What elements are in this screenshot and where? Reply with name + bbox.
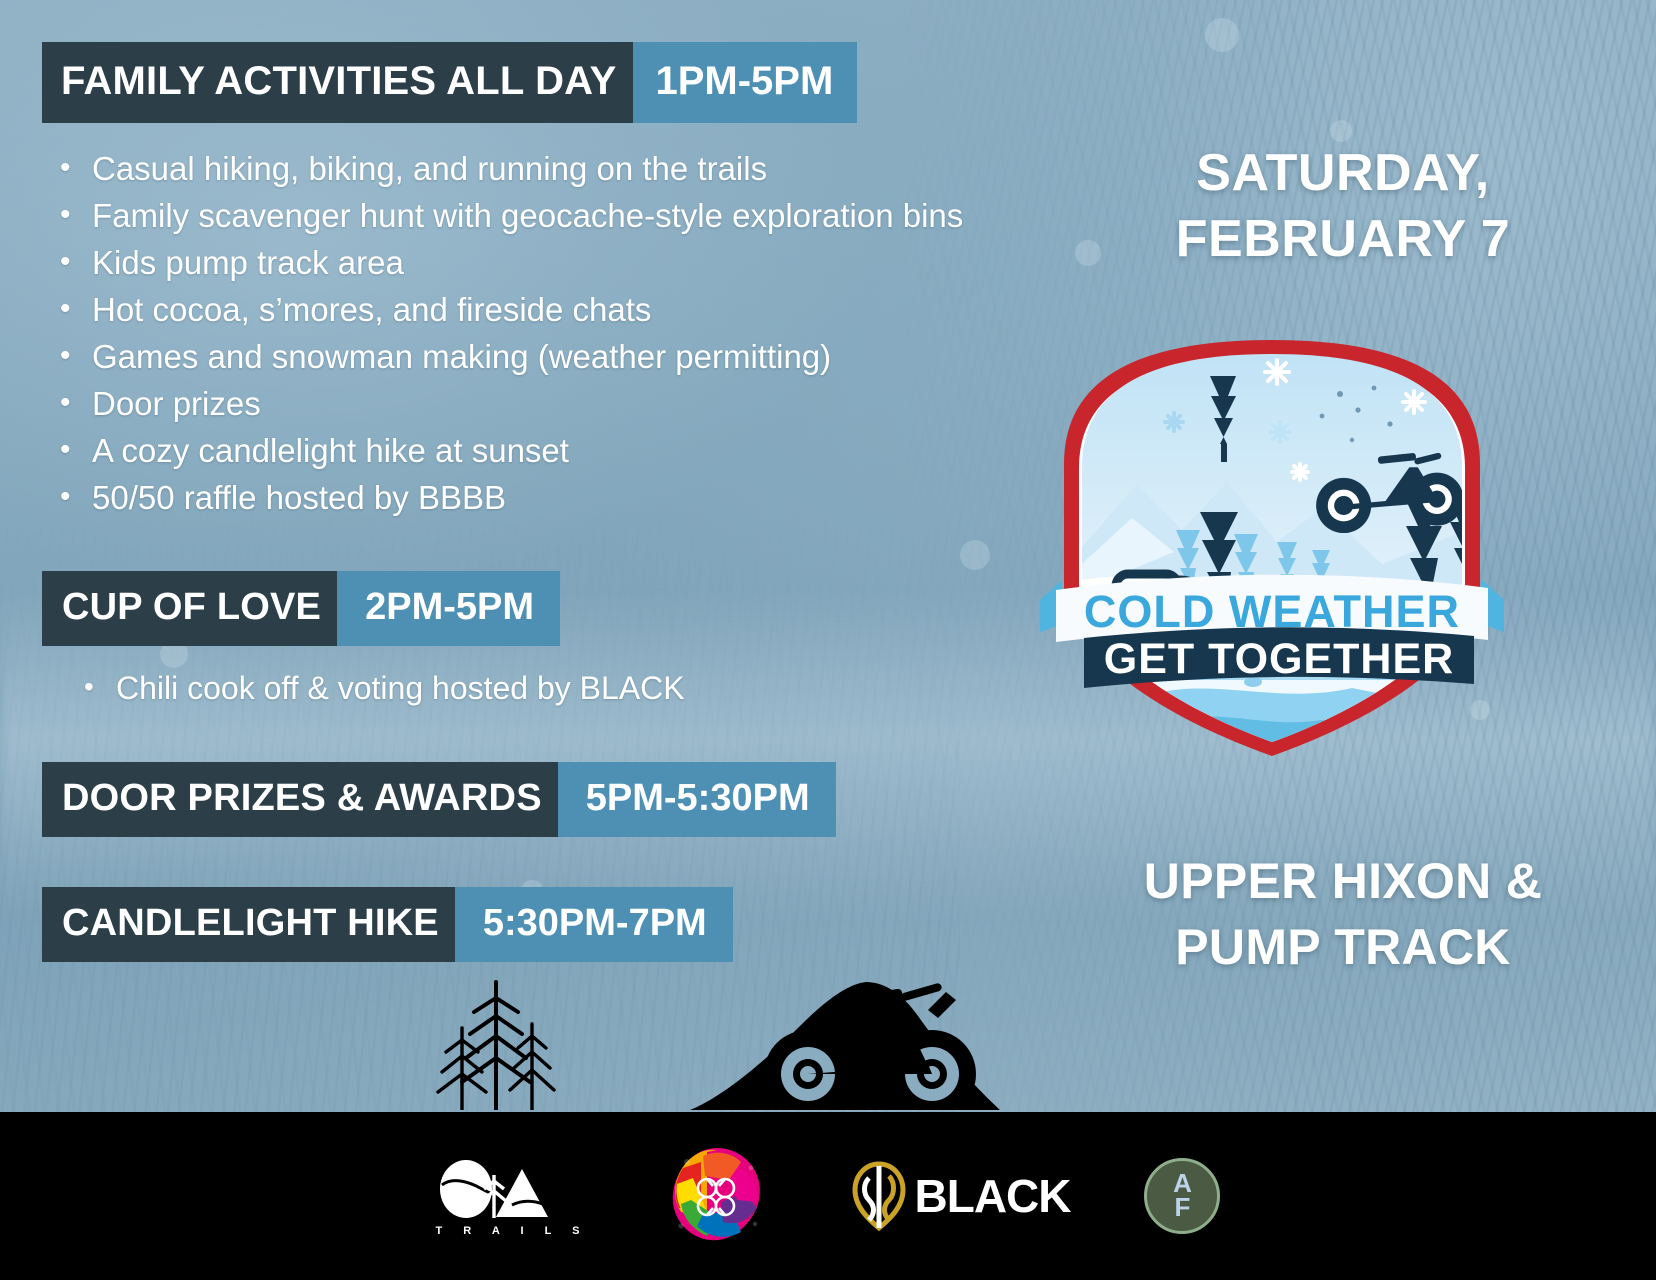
section-time: 5:30PM-7PM <box>455 887 733 962</box>
list-item: Door prizes <box>54 380 1027 427</box>
event-location-line-2: PUMP TRACK <box>1144 914 1542 980</box>
bullet-list-family-activities: Casual hiking, biking, and running on th… <box>54 145 1027 521</box>
list-item: Kids pump track area <box>54 239 1027 286</box>
list-item: Family scavenger hunt with geocache-styl… <box>54 192 1027 239</box>
section-time: 2PM-5PM <box>337 571 560 646</box>
list-item: Casual hiking, biking, and running on th… <box>54 145 1027 192</box>
section-header-door-prizes-awards: DOOR PRIZES & AWARDS 5PM-5:30PM <box>42 762 836 837</box>
sponsor-logo-ora-trails: T R A I L S <box>436 1155 589 1237</box>
svg-text:GET TOGETHER: GET TOGETHER <box>1104 635 1454 683</box>
section-title: FAMILY ACTIVITIES ALL DAY <box>42 42 633 123</box>
ora-trails-icon <box>436 1155 588 1221</box>
black-mark-icon <box>845 1158 915 1234</box>
list-item: 50/50 raffle hosted by BBBB <box>54 474 1027 521</box>
section-header-family-activities: FAMILY ACTIVITIES ALL DAY 1PM-5PM <box>42 42 857 123</box>
badge-artwork-icon: COLD WEATHER GET TOGETHER <box>1022 332 1522 762</box>
flyer-canvas: FAMILY ACTIVITIES ALL DAY 1PM-5PM Casual… <box>0 0 1656 1280</box>
section-header-candlelight-hike: CANDLELIGHT HIKE 5:30PM-7PM <box>42 887 733 962</box>
section-title: CUP OF LOVE <box>42 571 337 646</box>
sponsor-logo-black: BLACK <box>845 1158 1071 1234</box>
section-header-cup-of-love: CUP OF LOVE 2PM-5PM <box>42 571 560 646</box>
badge-banner-bottom: GET TOGETHER <box>1084 627 1474 688</box>
event-location: UPPER HIXON & PUMP TRACK <box>1144 848 1542 980</box>
event-date-line-1: SATURDAY, <box>1176 140 1510 206</box>
section-time: 1PM-5PM <box>633 42 857 123</box>
section-title: DOOR PRIZES & AWARDS <box>42 762 558 837</box>
list-item: Hot cocoa, s’mores, and fireside chats <box>54 286 1027 333</box>
sponsor-logo-bbbb <box>663 1142 771 1250</box>
section-title: CANDLELIGHT HIKE <box>42 887 455 962</box>
sponsor-footer: T R A I L S <box>0 1112 1656 1280</box>
bbbb-splatter-icon <box>663 1142 771 1250</box>
bullet-list-cup-of-love: Chili cook off & voting hosted by BLACK <box>80 666 1027 710</box>
sponsor-logo-af: A F <box>1144 1158 1220 1234</box>
af-badge-icon: A F <box>1144 1158 1220 1234</box>
ora-trails-wordmark: T R A I L S <box>436 1225 589 1237</box>
af-letter-f: F <box>1175 1196 1191 1220</box>
event-location-line-1: UPPER HIXON & <box>1144 848 1542 914</box>
list-item: A cozy candlelight hike at sunset <box>54 427 1027 474</box>
list-item: Games and snowman making (weather permit… <box>54 333 1027 380</box>
list-item: Chili cook off & voting hosted by BLACK <box>80 666 1027 710</box>
black-wordmark: BLACK <box>915 1169 1071 1223</box>
schedule-column: FAMILY ACTIVITIES ALL DAY 1PM-5PM Casual… <box>42 42 1027 962</box>
cold-weather-get-together-badge: COLD WEATHER GET TOGETHER <box>1022 332 1522 762</box>
section-time: 5PM-5:30PM <box>558 762 836 837</box>
event-date: SATURDAY, FEBRUARY 7 <box>1176 140 1510 272</box>
event-date-line-2: FEBRUARY 7 <box>1176 206 1510 272</box>
